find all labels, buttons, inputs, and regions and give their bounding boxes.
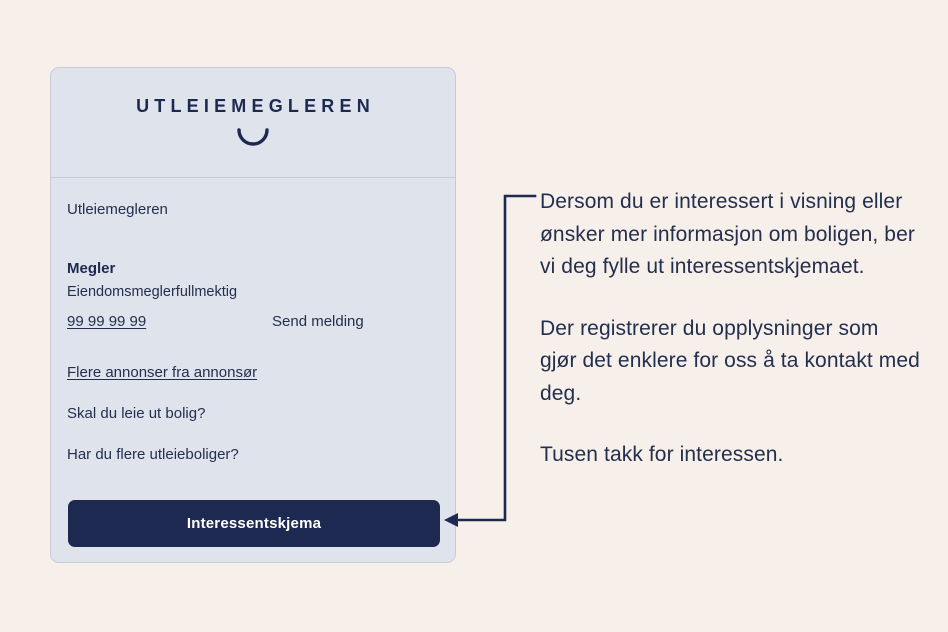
annotation-panel: Dersom du er interessert i visning eller… [540, 186, 920, 472]
broker-contact-row: 99 99 99 99 Send melding [67, 313, 439, 330]
broker-block: Megler Eiendomsmeglerfullmektig 99 99 99… [67, 259, 439, 330]
interest-form-button[interactable]: Interessentskjema [68, 500, 440, 547]
broker-contact-card: UTLEIEMEGLEREN Utleiemegleren Megler Eie… [50, 67, 456, 563]
brand-logo: UTLEIEMEGLEREN [51, 96, 455, 117]
related-links-block: Flere annonser fra annonsør Skal du leie… [67, 363, 439, 465]
link-more-rental-homes[interactable]: Har du flere utleieboliger? [67, 445, 439, 465]
broker-title: Eiendomsmeglerfullmektig [67, 282, 439, 302]
broker-phone-link[interactable]: 99 99 99 99 [67, 313, 272, 330]
link-more-ads-from-advertiser[interactable]: Flere annonser fra annonsør [67, 363, 439, 383]
agency-name: Utleiemegleren [67, 200, 439, 220]
card-body: Utleiemegleren Megler Eiendomsmeglerfull… [51, 178, 455, 465]
card-header: UTLEIEMEGLEREN [51, 68, 455, 178]
send-message-link[interactable]: Send melding [272, 313, 364, 330]
broker-name: Megler [67, 259, 439, 279]
annotation-paragraph-1: Dersom du er interessert i visning eller… [540, 186, 920, 284]
link-rent-out-home[interactable]: Skal du leie ut bolig? [67, 404, 439, 424]
annotation-paragraph-2: Der registrerer du opplysninger som gjør… [540, 313, 920, 411]
annotation-paragraph-3: Tusen takk for interessen. [540, 439, 920, 472]
smile-arc-icon [51, 128, 455, 150]
